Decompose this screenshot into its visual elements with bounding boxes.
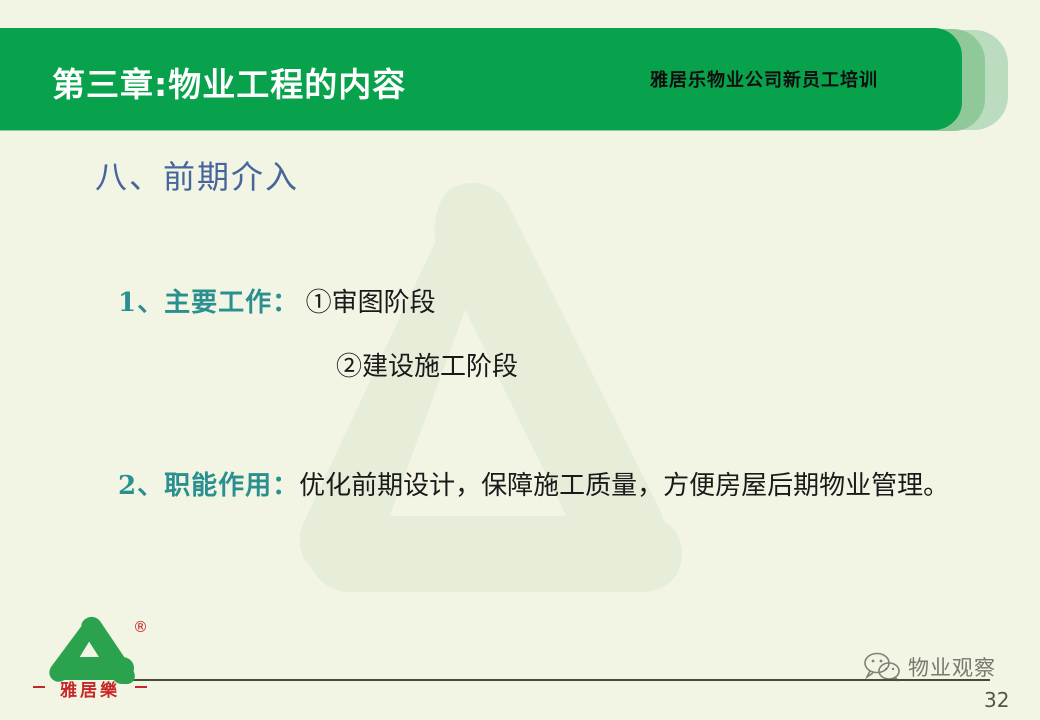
wechat-watermark: 物业观察 [862,652,996,682]
header-course-label: 雅居乐物业公司新员工培训 [650,66,878,92]
wechat-icon [862,652,902,682]
logo-triangle-icon [30,614,150,684]
presentation-slide: 第三章:物业工程的内容 雅居乐物业公司新员工培训 八、前期介入 1、主要工作： … [0,0,1040,720]
section-heading: 八、前期介入 [95,152,299,198]
logo-wordmark: 雅居樂 [30,676,150,701]
background-watermark-logo [190,180,750,650]
page-title: 第三章:物业工程的内容 [52,58,406,106]
bullet-label-function-role: 2、职能作用： [118,471,299,501]
company-logo: ® 雅居樂 [30,614,150,706]
bullet-value-phase-2: ②建设施工阶段 [336,346,518,383]
page-number: 32 [984,688,1009,712]
bullet-value-phase-1: ①审图阶段 [306,288,436,318]
list-item: 1、主要工作： ①审图阶段 [118,282,436,319]
registered-trademark-icon: ® [133,618,148,636]
bullet-value-function-role: 优化前期设计，保障施工质量，方便房屋后期物业管理。 [299,471,949,501]
footer-divider [130,679,990,681]
slide-header: 第三章:物业工程的内容 雅居乐物业公司新员工培训 [0,28,1040,132]
list-item: 2、职能作用：优化前期设计，保障施工质量，方便房屋后期物业管理。 [118,466,978,506]
bullet-label-main-work: 1、主要工作： [118,288,299,318]
wechat-account-name: 物业观察 [908,652,996,682]
